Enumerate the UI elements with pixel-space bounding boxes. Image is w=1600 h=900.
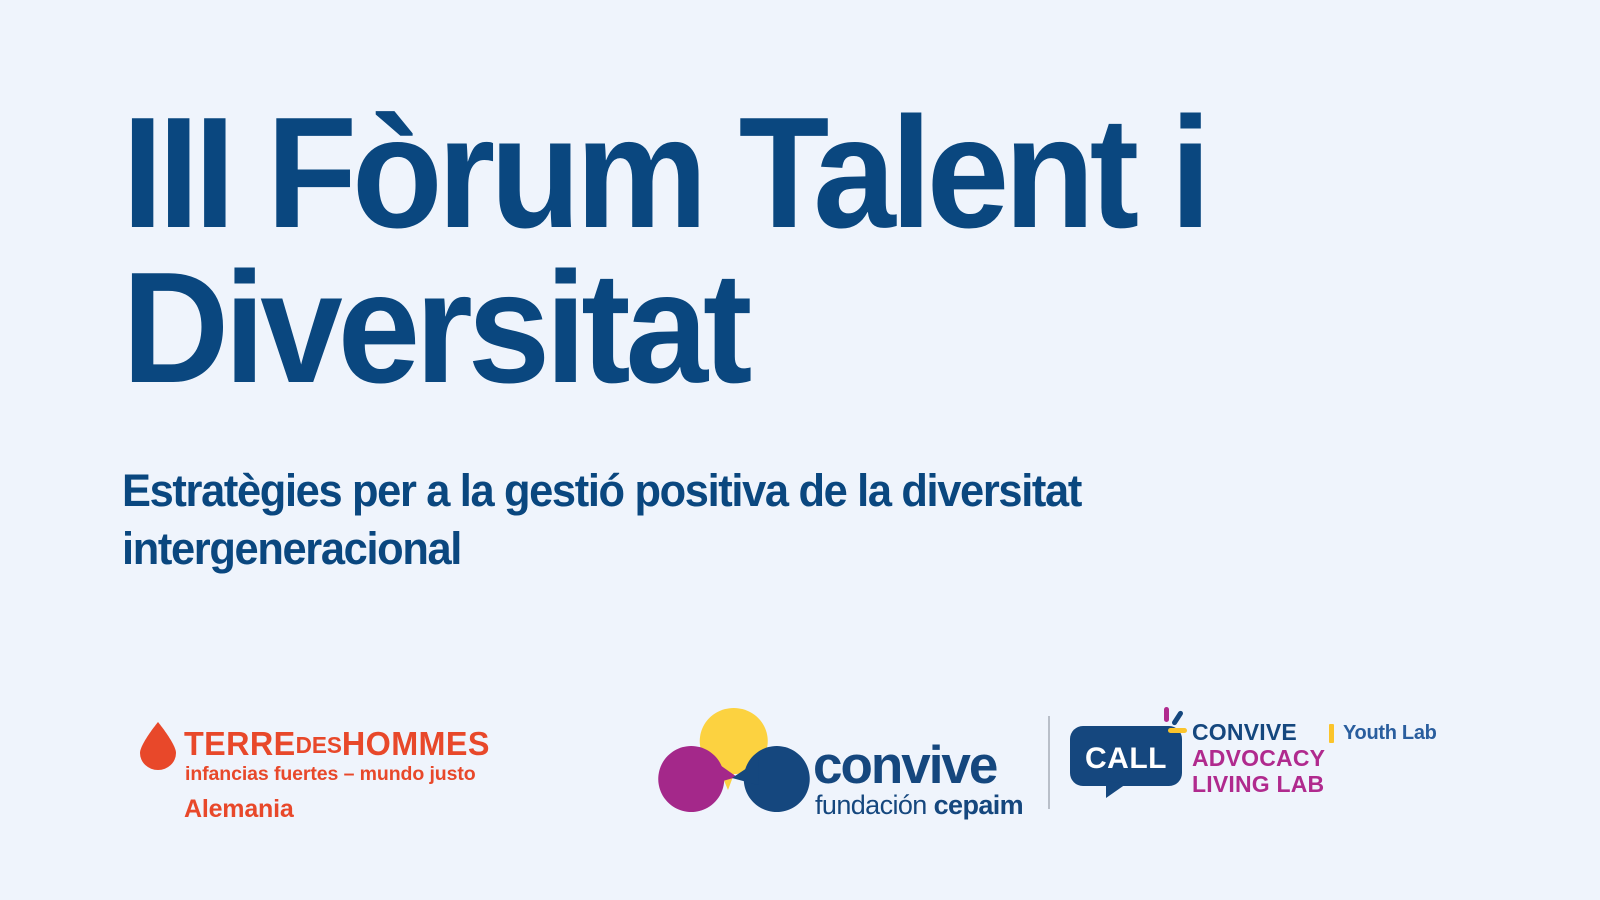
logo-divider — [1048, 716, 1050, 809]
youth-lab-bar-icon — [1329, 724, 1334, 743]
call-line-living-lab: LIVING LAB — [1192, 772, 1325, 798]
tdh-country: Alemania — [184, 795, 294, 824]
page-title: III Fòrum Talent i Diversitat — [122, 96, 1422, 406]
title-line-1: III Fòrum Talent i — [122, 96, 1344, 251]
call-line-convive: CONVIVE — [1192, 720, 1325, 746]
teardrop-icon — [140, 722, 176, 770]
presentation-slide: III Fòrum Talent i Diversitat Estratègie… — [0, 0, 1600, 900]
title-line-2: Diversitat — [122, 251, 1344, 406]
convive-wordmark: convive — [813, 735, 996, 796]
convive-subline-light: fundación — [815, 790, 927, 820]
tdh-word-hommes: HOMMES — [342, 725, 490, 762]
tdh-tagline: infancias fuertes – mundo justo — [185, 763, 476, 786]
page-subtitle: Estratègies per a la gestió positiva de … — [122, 462, 1377, 577]
tdh-wordmark: TERREDESHOMMES — [184, 725, 490, 763]
call-bubble-label: CALL — [1085, 742, 1167, 775]
tdh-word-terre: TERRE — [184, 725, 296, 762]
three-speech-bubbles-icon — [655, 702, 813, 812]
youth-lab-label: Youth Lab — [1343, 722, 1437, 745]
call-line-advocacy: ADVOCACY — [1192, 746, 1325, 772]
logo-strip: TERREDESHOMMES infancias fuertes – mundo… — [0, 690, 1600, 840]
logo-terre-des-hommes: TERREDESHOMMES infancias fuertes – mundo… — [136, 706, 536, 826]
logo-call: CALL CONVIVE ADVOCACY LIVING LAB Youth L… — [1070, 698, 1490, 828]
convive-subline: fundación cepaim — [815, 790, 1023, 821]
logo-convive-cepaim: convive fundación cepaim — [655, 702, 1030, 822]
convive-subline-bold: cepaim — [934, 790, 1023, 820]
youth-lab-lockup: Youth Lab — [1329, 722, 1437, 745]
tdh-word-des: DES — [296, 732, 342, 758]
call-lockup-text: CONVIVE ADVOCACY LIVING LAB — [1192, 720, 1325, 797]
